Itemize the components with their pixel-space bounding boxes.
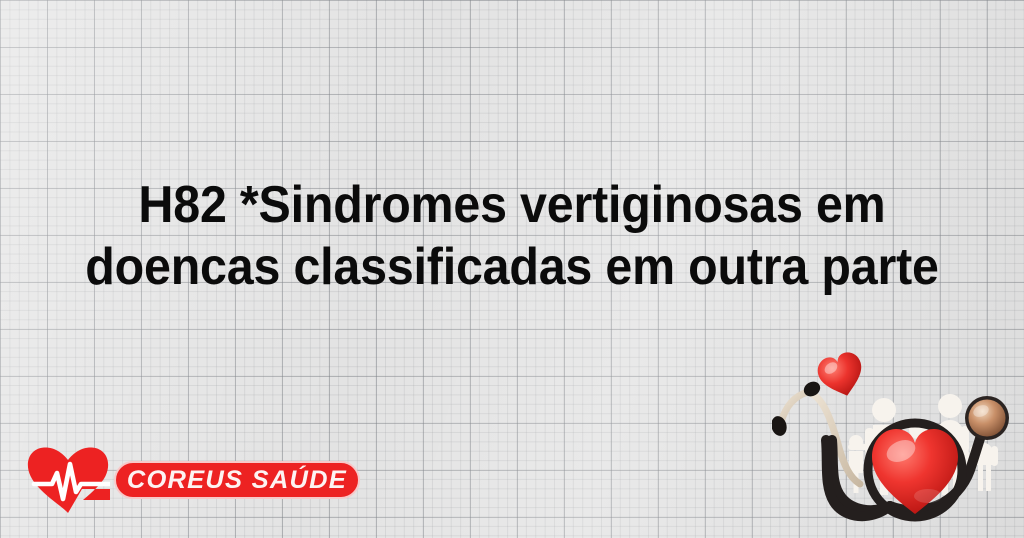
heart-pulse-icon bbox=[26, 446, 110, 514]
brand-name-label: COREUS SAÚDE bbox=[127, 466, 347, 495]
page-title: H82 *Sindromes vertiginosas em doencas c… bbox=[36, 174, 988, 298]
medical-illustration bbox=[772, 344, 1024, 538]
brand-logo[interactable]: COREUS SAÚDE bbox=[26, 444, 356, 514]
small-heart-icon bbox=[814, 349, 868, 402]
slide-canvas: H82 *Sindromes vertiginosas em doencas c… bbox=[0, 0, 1024, 538]
stethoscope-chestpiece-icon bbox=[965, 396, 1009, 440]
brand-name-badge: COREUS SAÚDE bbox=[114, 461, 360, 499]
